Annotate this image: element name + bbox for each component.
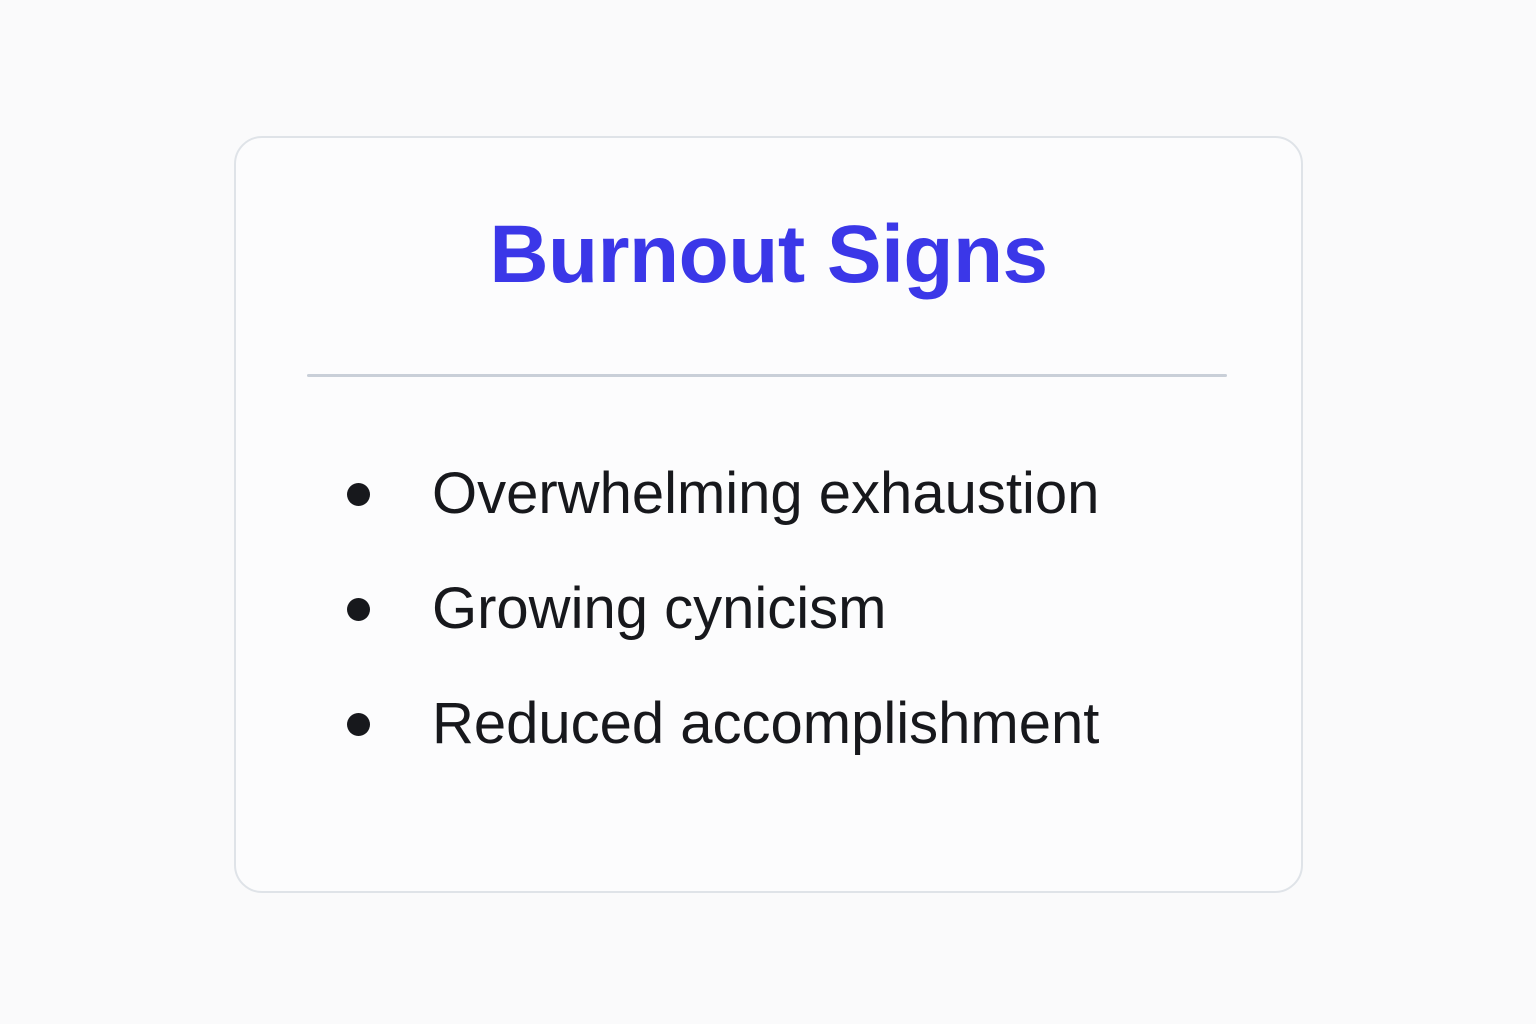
list-item-label: Reduced accomplishment: [432, 692, 1099, 756]
list-item: Growing cynicism: [347, 551, 1261, 666]
bullet-dot-icon: [347, 713, 370, 736]
title-divider: [307, 374, 1227, 377]
burnout-signs-list: Overwhelming exhaustion Growing cynicism…: [347, 436, 1261, 781]
list-item: Overwhelming exhaustion: [347, 436, 1261, 551]
page-canvas: Burnout Signs Overwhelming exhaustion Gr…: [0, 0, 1536, 1024]
bullet-dot-icon: [347, 598, 370, 621]
card-title: Burnout Signs: [236, 212, 1301, 298]
bullet-dot-icon: [347, 483, 370, 506]
burnout-signs-card: Burnout Signs Overwhelming exhaustion Gr…: [234, 136, 1303, 893]
list-item-label: Overwhelming exhaustion: [432, 462, 1099, 526]
list-item-label: Growing cynicism: [432, 577, 886, 641]
list-item: Reduced accomplishment: [347, 666, 1261, 781]
